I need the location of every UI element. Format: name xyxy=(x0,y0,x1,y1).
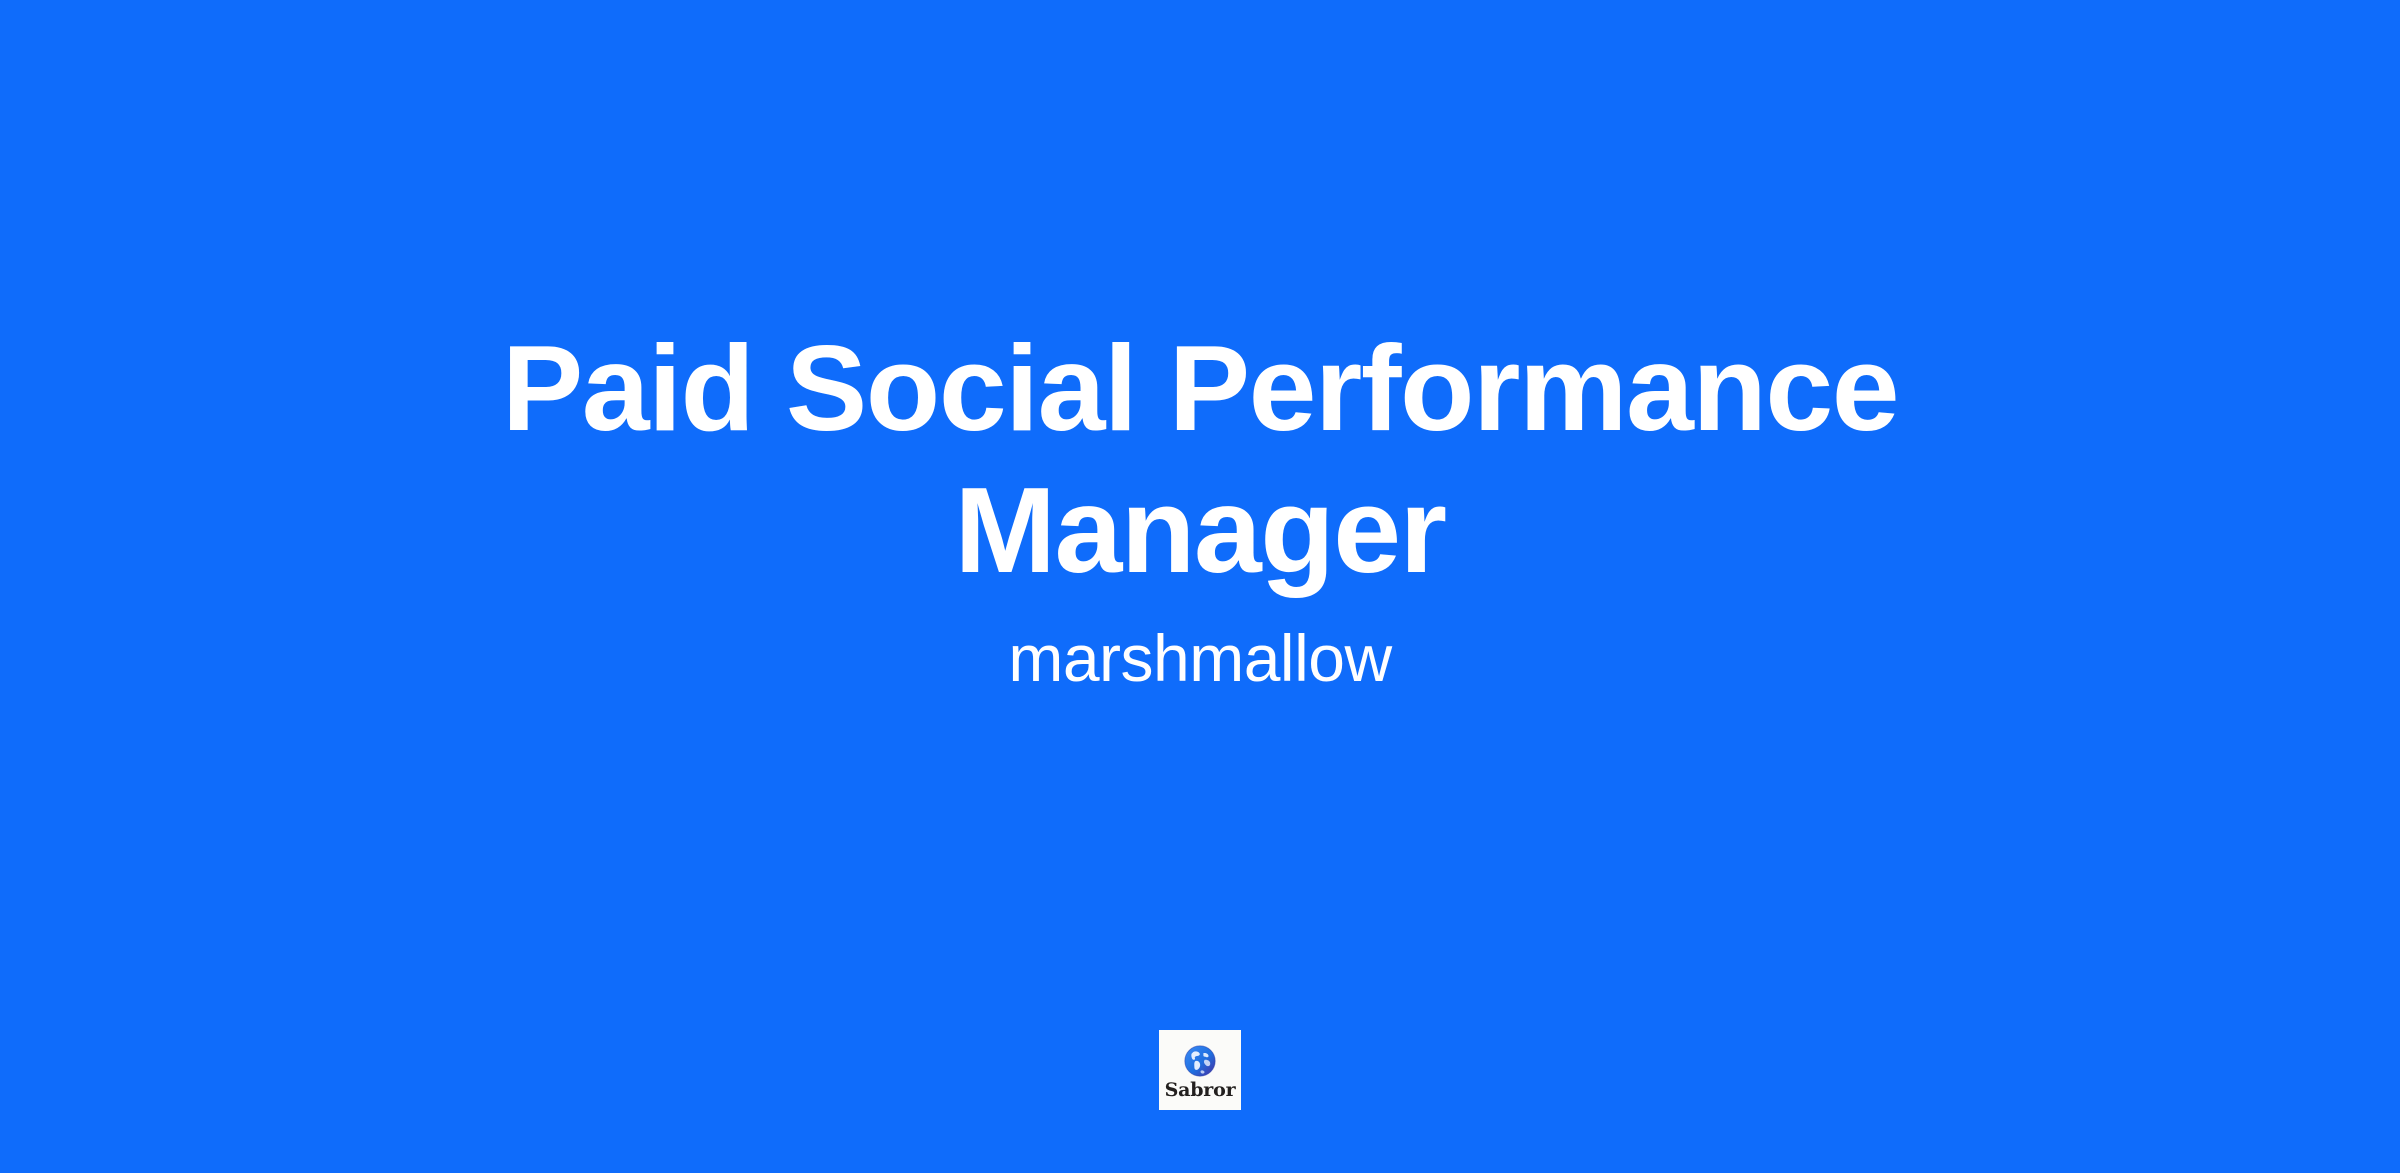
hero-text-block: Paid Social Performance Manager marshmal… xyxy=(0,318,2400,698)
page-subtitle: marshmallow xyxy=(1008,619,1391,698)
company-logo-badge: Sabror xyxy=(1159,1030,1241,1110)
globe-icon xyxy=(1182,1043,1218,1079)
logo-wordmark: Sabror xyxy=(1165,1081,1236,1100)
page-title: Paid Social Performance Manager xyxy=(420,318,1980,601)
slide-root: Paid Social Performance Manager marshmal… xyxy=(0,0,2400,1173)
